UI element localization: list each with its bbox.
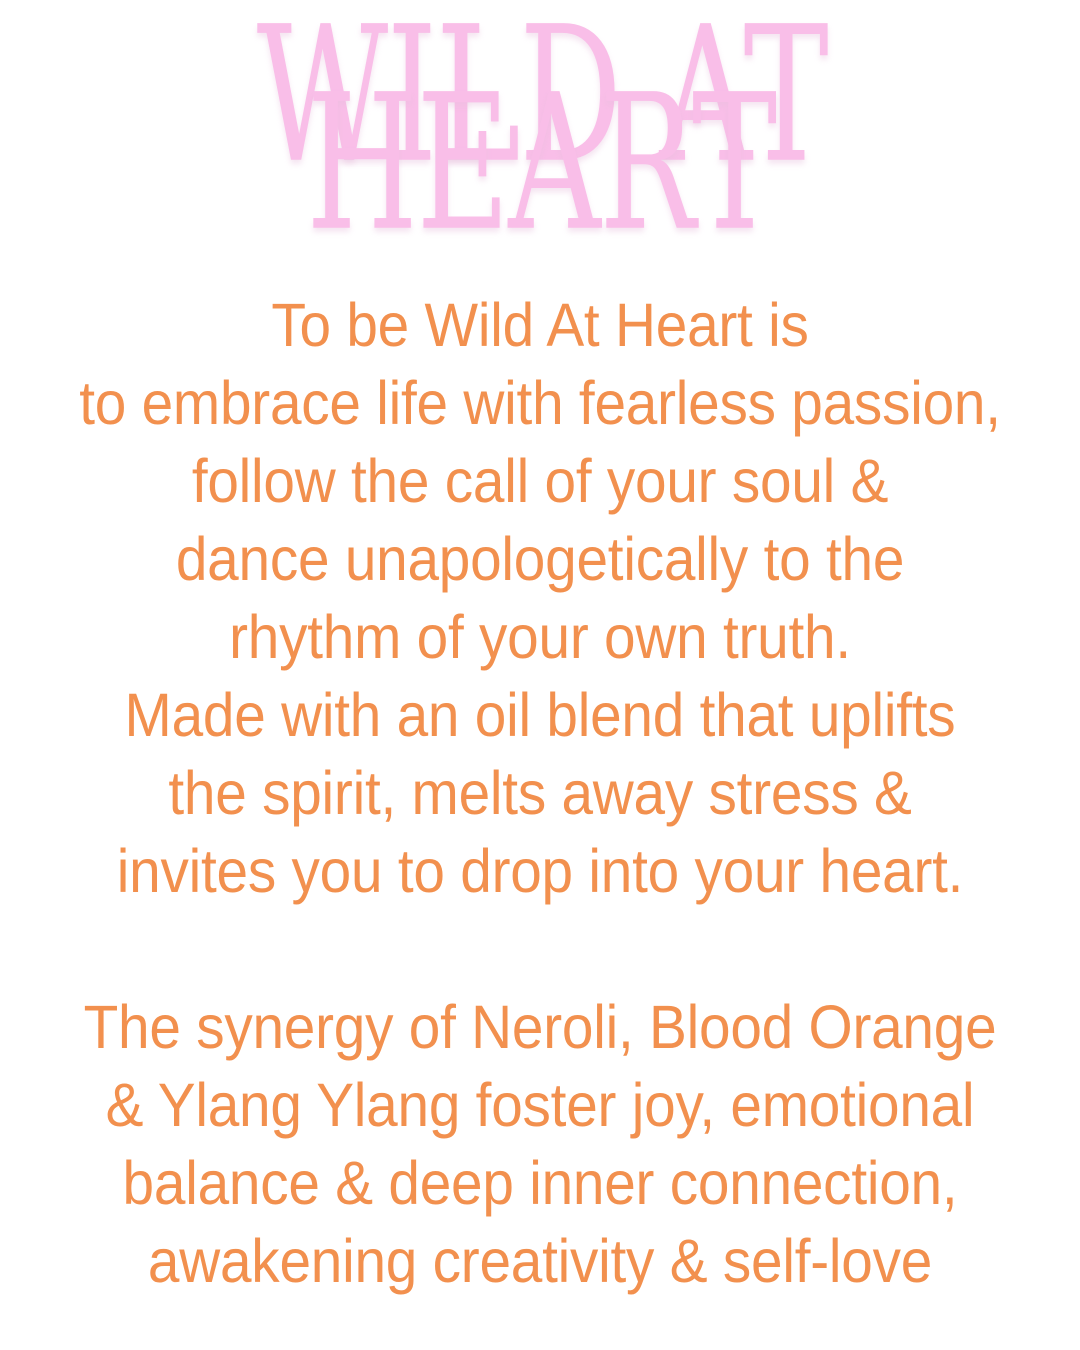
body-line: The synergy of Neroli, Blood Orange [38,988,1042,1066]
poster-canvas: WILD AT HEART To be Wild At Heart is to … [0,0,1080,1350]
body-line: Made with an oil blend that uplifts [38,676,1042,754]
brand-title-line-2: HEART [18,90,1064,240]
paragraph-spacer [0,910,1080,988]
body-line: to embrace life with fearless passion, [38,364,1042,442]
body-line: balance & deep inner connection, [38,1144,1042,1222]
body-line: follow the call of your soul & [38,442,1042,520]
body-line: dance unapologetically to the [38,520,1042,598]
brand-title: WILD AT HEART [0,22,1080,195]
body-line: the spirit, melts away stress & [38,754,1042,832]
body-line: & Ylang Ylang foster joy, emotional [38,1066,1042,1144]
body-copy: To be Wild At Heart is to embrace life w… [0,286,1080,1300]
body-line: To be Wild At Heart is [38,286,1042,364]
body-line: invites you to drop into your heart. [38,832,1042,910]
body-line: rhythm of your own truth. [38,598,1042,676]
paragraph-two: The synergy of Neroli, Blood Orange & Yl… [0,988,1080,1300]
body-line: awakening creativity & self-love [38,1222,1042,1300]
paragraph-one: To be Wild At Heart is to embrace life w… [0,286,1080,910]
